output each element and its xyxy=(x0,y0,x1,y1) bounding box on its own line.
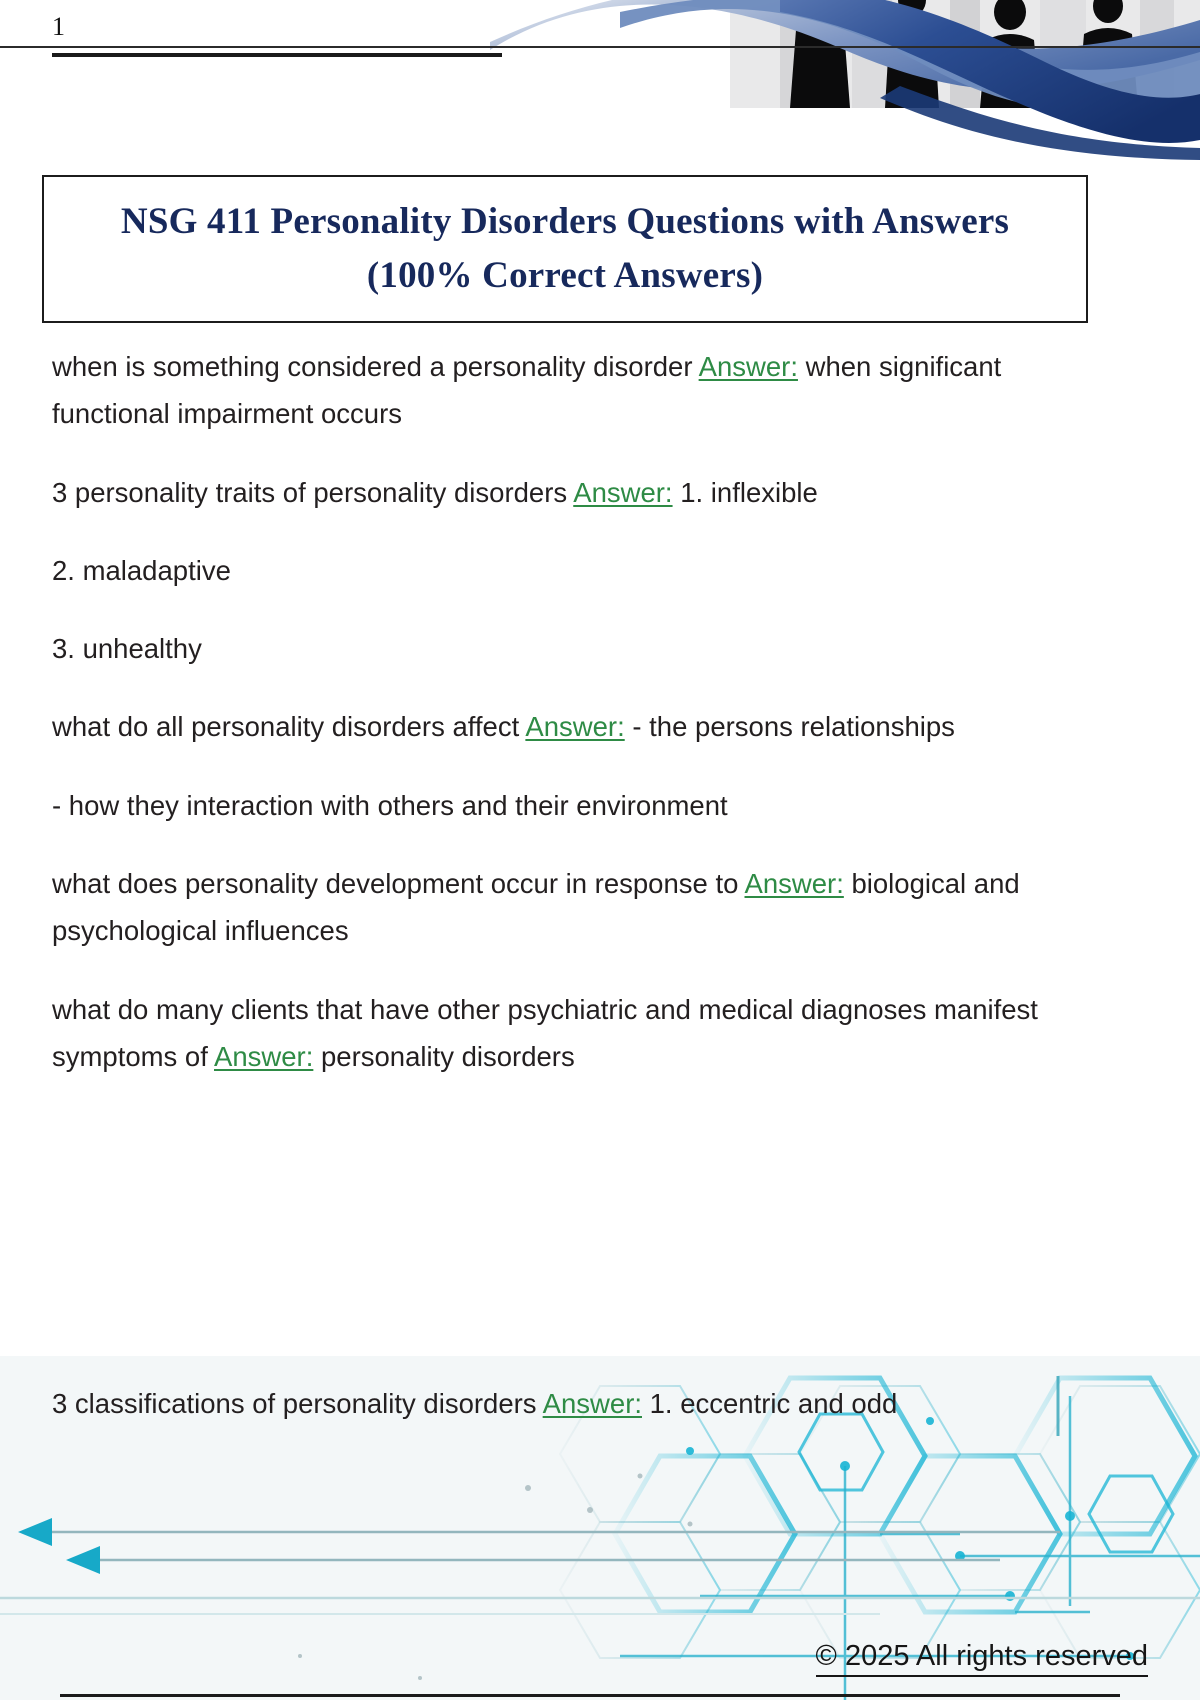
answer-text: personality disorders xyxy=(313,1041,574,1072)
qa-block: 3 classifications of personality disorde… xyxy=(52,1380,1092,1427)
answer-text: 1. inflexible xyxy=(673,477,818,508)
page-number: 1 xyxy=(52,14,65,40)
page-header: 1 xyxy=(0,0,1200,160)
question-text: 2. maladaptive xyxy=(52,555,231,586)
qa-block: 3. unhealthy xyxy=(52,625,1092,672)
answer-label: Answer: xyxy=(699,351,798,382)
document-page: 1 NSG 411 Personality Disorders Question… xyxy=(0,0,1200,1700)
qa-block: - how they interaction with others and t… xyxy=(52,782,1092,829)
qa-block: 2. maladaptive xyxy=(52,547,1092,594)
header-rule-thin xyxy=(0,46,1200,48)
qa-block: when is something considered a personali… xyxy=(52,343,1092,438)
document-title-box: NSG 411 Personality Disorders Questions … xyxy=(42,175,1088,323)
blue-wave-people-silhouette-banner-icon xyxy=(480,0,1200,160)
question-text: 3 classifications of personality disorde… xyxy=(52,1388,543,1419)
question-text: when is something considered a personali… xyxy=(52,351,699,382)
question-text: what do all personality disorders affect xyxy=(52,711,525,742)
qa-block: what do all personality disorders affect… xyxy=(52,703,1092,750)
footer-bottom-rule xyxy=(60,1694,1120,1697)
question-text: 3 personality traits of personality diso… xyxy=(52,477,573,508)
answer-label: Answer: xyxy=(573,477,672,508)
question-text: 3. unhealthy xyxy=(52,633,202,664)
answer-label: Answer: xyxy=(214,1041,313,1072)
page-title-line-2: (100% Correct Answers) xyxy=(367,249,763,303)
copyright-notice: © 2025 All rights reserved xyxy=(816,1640,1148,1677)
answer-label: Answer: xyxy=(543,1388,642,1419)
answer-label: Answer: xyxy=(745,868,844,899)
answer-text: 1. eccentric and odd xyxy=(642,1388,897,1419)
answer-text: - the persons relationships xyxy=(625,711,955,742)
question-text: - how they interaction with others and t… xyxy=(52,790,728,821)
answer-label: Answer: xyxy=(525,711,624,742)
qa-block: what do many clients that have other psy… xyxy=(52,986,1092,1081)
qa-content: when is something considered a personali… xyxy=(52,343,1092,1111)
qa-block: 3 personality traits of personality diso… xyxy=(52,469,1092,516)
qa-block: what does personality development occur … xyxy=(52,860,1092,955)
header-rule-thick xyxy=(52,53,502,57)
page-title-line-1: NSG 411 Personality Disorders Questions … xyxy=(121,195,1009,249)
question-text: what does personality development occur … xyxy=(52,868,745,899)
